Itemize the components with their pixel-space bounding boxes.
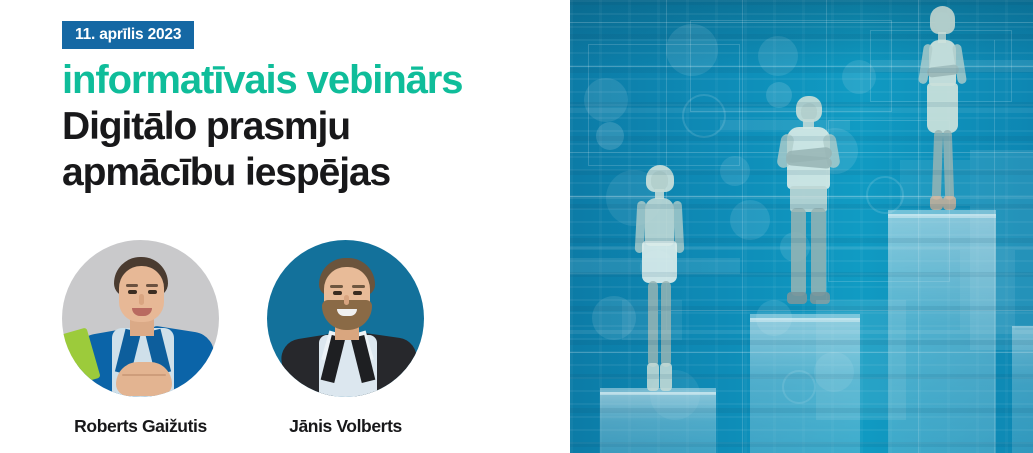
date-badge: 11. aprīlis 2023 — [62, 21, 194, 49]
speaker-roberts-gaizutis: Roberts Gaižutis — [62, 240, 219, 437]
headline-accent-line: informatīvais vebinārs — [62, 57, 562, 104]
avatar-janis-volberts — [267, 240, 424, 397]
headline-line-2: apmācību iespējas — [62, 150, 562, 196]
hero-image — [570, 0, 1033, 453]
speaker-name: Jānis Volberts — [289, 416, 402, 437]
headline-block: informatīvais vebinārs Digitālo prasmju … — [62, 57, 562, 196]
headline-line-1: Digitālo prasmju — [62, 104, 562, 150]
avatar-roberts-gaizutis — [62, 240, 219, 397]
webinar-promo-banner: 11. aprīlis 2023 informatīvais vebinārs … — [0, 0, 1033, 453]
left-content-panel: 11. aprīlis 2023 informatīvais vebinārs … — [0, 0, 570, 453]
speaker-name: Roberts Gaižutis — [74, 416, 207, 437]
speakers-list: Roberts Gaižutis — [62, 240, 424, 437]
speaker-janis-volberts: Jānis Volberts — [267, 240, 424, 437]
